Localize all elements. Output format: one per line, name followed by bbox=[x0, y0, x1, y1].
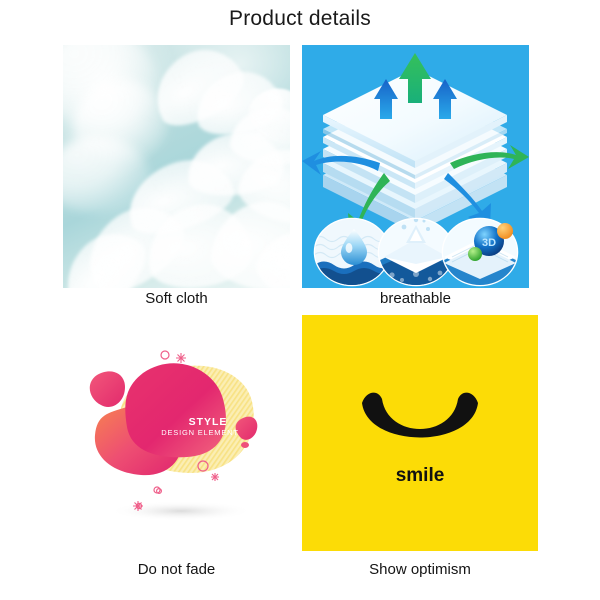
product-label-breathable: breathable bbox=[302, 290, 529, 307]
blob-dot bbox=[241, 442, 249, 448]
blob-shadow bbox=[109, 501, 253, 521]
product-label-soft-cloth: Soft cloth bbox=[63, 290, 290, 307]
smile-illustration: smile bbox=[302, 315, 538, 551]
product-label-do-not-fade: Do not fade bbox=[63, 561, 290, 578]
page-title: Product details bbox=[0, 7, 600, 31]
design-element-illustration: STYLE DESIGN ELEMENT bbox=[63, 315, 290, 558]
product-image-do-not-fade[interactable]: STYLE DESIGN ELEMENT bbox=[63, 315, 290, 558]
product-image-breathable[interactable]: 3D bbox=[302, 45, 529, 288]
breathable-illustration: 3D bbox=[302, 45, 529, 288]
blob-title-style: STYLE bbox=[189, 416, 228, 428]
product-image-show-optimism[interactable]: smile bbox=[302, 315, 538, 551]
blob-subtitle-design-element: DESIGN ELEMENT bbox=[161, 428, 238, 437]
product-label-show-optimism: Show optimism bbox=[302, 561, 538, 578]
product-image-soft-cloth[interactable] bbox=[63, 45, 290, 288]
smile-label: smile bbox=[396, 465, 445, 486]
inset-3d-label: 3D bbox=[482, 237, 496, 249]
product-details-page: Product details Soft cloth bbox=[0, 0, 600, 600]
inset-3d-structure: 3D bbox=[442, 217, 518, 287]
